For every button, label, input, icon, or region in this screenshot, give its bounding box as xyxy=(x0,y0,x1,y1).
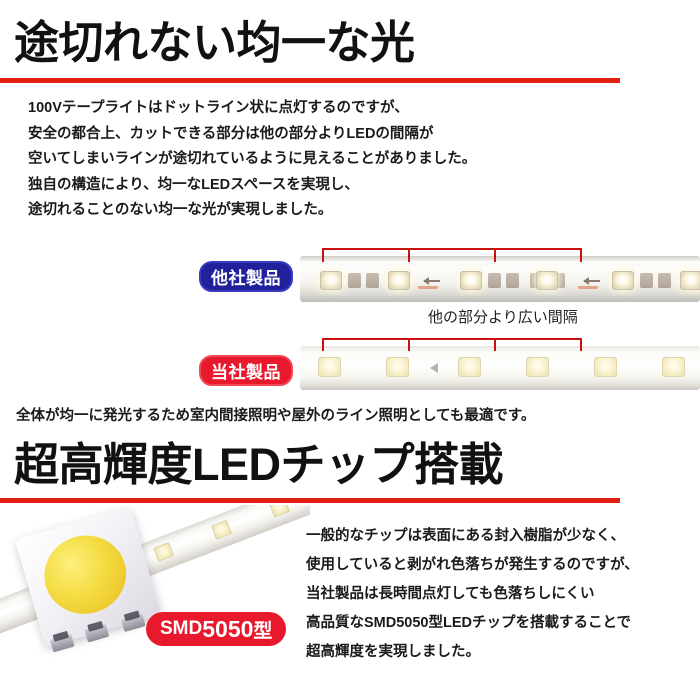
bracket-bar xyxy=(322,248,582,250)
direction-arrow-icon xyxy=(424,280,440,282)
phosphor-dome xyxy=(35,526,135,624)
chip-line: 超高輝度を実現しました。 xyxy=(306,638,696,667)
chip-description-paragraph: 一般的なチップは表面にある封入樹脂が少なく、 使用していると剥がれ色落ちが発生す… xyxy=(306,522,696,667)
led-dot xyxy=(458,357,481,377)
section-heading-uniform-light: 途切れない均一な光 xyxy=(14,18,415,68)
led-dot xyxy=(680,271,700,290)
heading-underline-1 xyxy=(0,78,620,83)
led-dot xyxy=(662,357,685,377)
led-dot xyxy=(153,542,174,562)
intro-line: 空いてしまいラインが途切れているように見えることがありました。 xyxy=(28,147,668,173)
bracket-tick xyxy=(494,248,496,262)
led-dot xyxy=(211,520,232,540)
bracket-tick xyxy=(580,338,582,351)
competitor-led-strip-photo xyxy=(300,256,700,302)
bracket-tick xyxy=(580,248,582,262)
led-dot xyxy=(536,271,558,290)
section-heading-led-chip: 超高輝度LEDチップ搭載 xyxy=(14,440,503,490)
bracket-tick xyxy=(408,248,410,262)
direction-arrow-icon xyxy=(584,280,600,282)
strip-component xyxy=(366,273,379,288)
chip-line: 当社製品は長時間点灯しても色落ちしにくい xyxy=(306,580,696,609)
direction-arrow-icon xyxy=(430,363,438,373)
heading-underline-2 xyxy=(0,498,620,503)
led-dot xyxy=(386,357,409,377)
closing-statement: 全体が均一に発光するため室内間接照明や屋外のライン照明としても最適です。 xyxy=(16,404,535,425)
bracket-tick xyxy=(322,338,324,351)
intro-line: 途切れることのない均一な光が実現しました。 xyxy=(28,198,668,224)
intro-line: 100Vテープライトはドットライン状に点灯するのですが、 xyxy=(28,96,668,122)
led-dot xyxy=(526,357,549,377)
badge-our-product: 当社製品 xyxy=(199,355,293,386)
smd-suffix: 型 xyxy=(253,616,272,643)
strip-sheen xyxy=(300,261,700,268)
led-dot xyxy=(612,271,634,290)
chip-line: 一般的なチップは表面にある封入樹脂が少なく、 xyxy=(306,522,696,551)
product-infographic: 途切れない均一な光 100Vテープライトはドットライン状に点灯するのですが、 安… xyxy=(0,0,700,700)
intro-paragraph: 100Vテープライトはドットライン状に点灯するのですが、 安全の都合上、カットで… xyxy=(28,96,668,224)
led-dot xyxy=(320,271,342,290)
led-dot xyxy=(318,357,341,377)
solder-pad xyxy=(578,286,598,289)
led-dot xyxy=(269,505,290,518)
led-dot xyxy=(388,271,410,290)
gap-caption-wider-spacing: 他の部分より広い間隔 xyxy=(428,306,578,327)
strip-component xyxy=(348,273,361,288)
strip-component xyxy=(640,273,653,288)
intro-line: 独自の構造により、均一なLEDスペースを実現し、 xyxy=(28,173,668,199)
intro-line: 安全の都合上、カットできる部分は他の部分よりLEDの間隔が xyxy=(28,122,668,148)
smd-number: 5050 xyxy=(202,616,253,643)
led-dot xyxy=(594,357,617,377)
smd5050-chip xyxy=(15,507,161,648)
smd-chip-photo xyxy=(0,505,310,700)
chip-line: 高品質なSMD5050型LEDチップを搭載することで xyxy=(306,609,696,638)
smd-prefix: SMD xyxy=(160,618,202,640)
strip-component xyxy=(658,273,671,288)
bracket-bar xyxy=(322,338,582,340)
chip-line: 使用していると剥がれ色落ちが発生するのですが、 xyxy=(306,551,696,580)
bracket-tick xyxy=(408,338,410,351)
our-led-strip-photo xyxy=(300,346,700,390)
bracket-tick xyxy=(322,248,324,262)
strip-component xyxy=(506,273,519,288)
bracket-tick xyxy=(494,338,496,351)
badge-smd5050: SMD 5050 型 xyxy=(146,612,286,646)
badge-competitor-product: 他社製品 xyxy=(199,261,293,292)
led-dot xyxy=(460,271,482,290)
solder-pad xyxy=(418,286,438,289)
strip-component xyxy=(488,273,501,288)
